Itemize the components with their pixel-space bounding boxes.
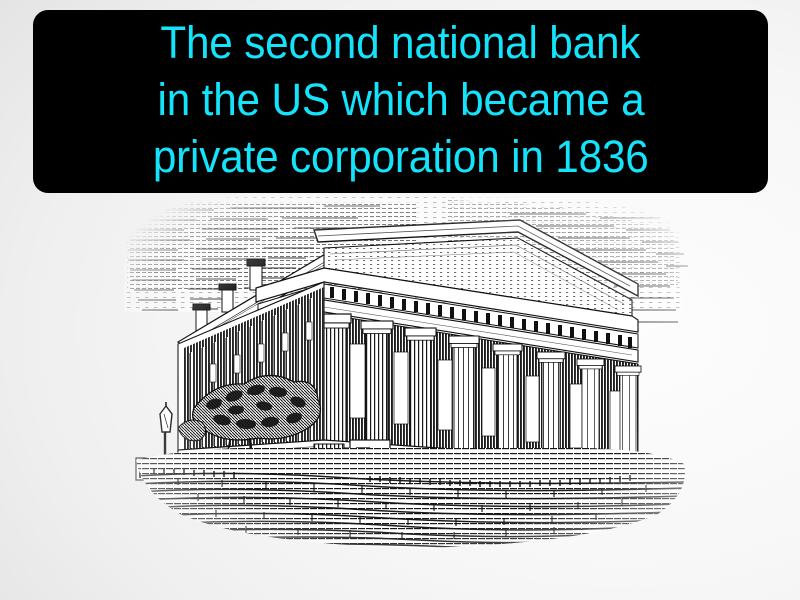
caption-line-3: private corporation in 1836	[153, 128, 649, 185]
column-3	[405, 328, 436, 456]
caption-banner: The second national bank in the US which…	[33, 10, 768, 193]
street-lamp	[158, 402, 174, 460]
second-bank-engraving-image	[118, 192, 708, 572]
caption-line-1: The second national bank	[161, 14, 641, 71]
cobblestone-street	[118, 442, 708, 572]
caption-line-2: in the US which became a	[157, 71, 644, 128]
engraving-content	[118, 196, 708, 572]
illustration-container	[118, 192, 708, 572]
definition-card: The second national bank in the US which…	[0, 0, 800, 600]
column-2	[361, 321, 393, 453]
